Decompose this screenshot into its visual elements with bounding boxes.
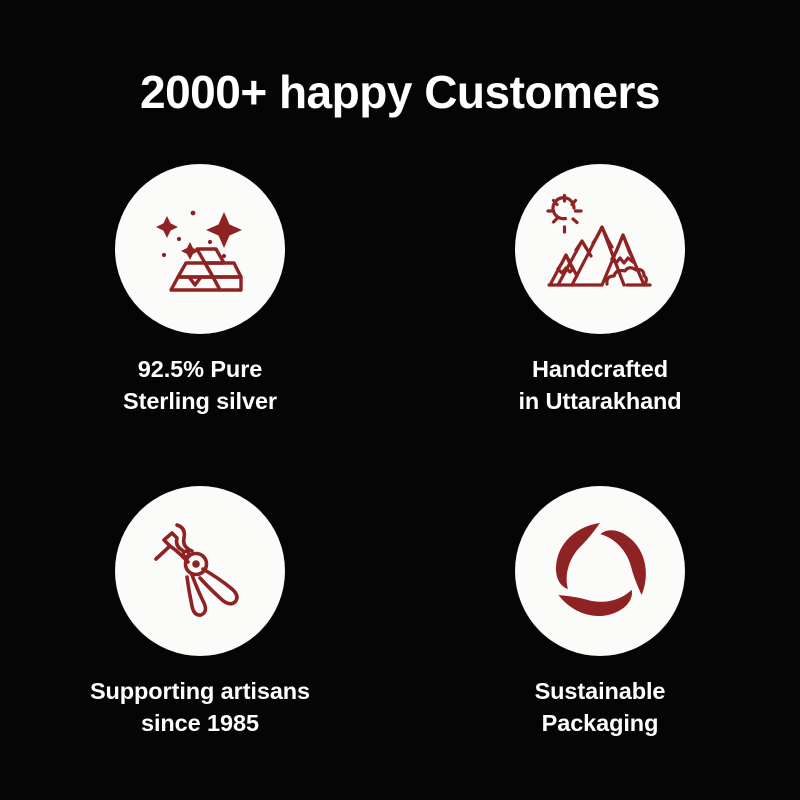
- badge-circle: [515, 164, 685, 334]
- mountains-sun-icon: [544, 193, 656, 305]
- badge-circle: [115, 164, 285, 334]
- feature-item-sterling-silver[interactable]: 92.5% Pure Sterling silver: [30, 164, 370, 418]
- feature-item-supporting-artisans[interactable]: Supporting artisans since 1985: [30, 486, 370, 740]
- promo-card: 2000+ happy Customers: [0, 0, 800, 800]
- feature-item-sustainable-packaging[interactable]: Sustainable Packaging: [430, 486, 770, 740]
- badge-circle: [115, 486, 285, 656]
- three-leaves-recycle-icon: [544, 515, 656, 627]
- silver-bars-sparkle-icon: [145, 194, 255, 304]
- feature-label: Handcrafted in Uttarakhand: [518, 354, 681, 418]
- feature-label: 92.5% Pure Sterling silver: [123, 354, 277, 418]
- feature-item-handcrafted[interactable]: Handcrafted in Uttarakhand: [430, 164, 770, 418]
- badge-circle: [515, 486, 685, 656]
- feature-label: Sustainable Packaging: [535, 676, 666, 740]
- feature-label: Supporting artisans since 1985: [90, 676, 310, 740]
- page-title: 2000+ happy Customers: [140, 68, 660, 116]
- feature-grid: 92.5% Pure Sterling silver: [0, 164, 800, 740]
- pliers-tool-icon: [148, 519, 252, 623]
